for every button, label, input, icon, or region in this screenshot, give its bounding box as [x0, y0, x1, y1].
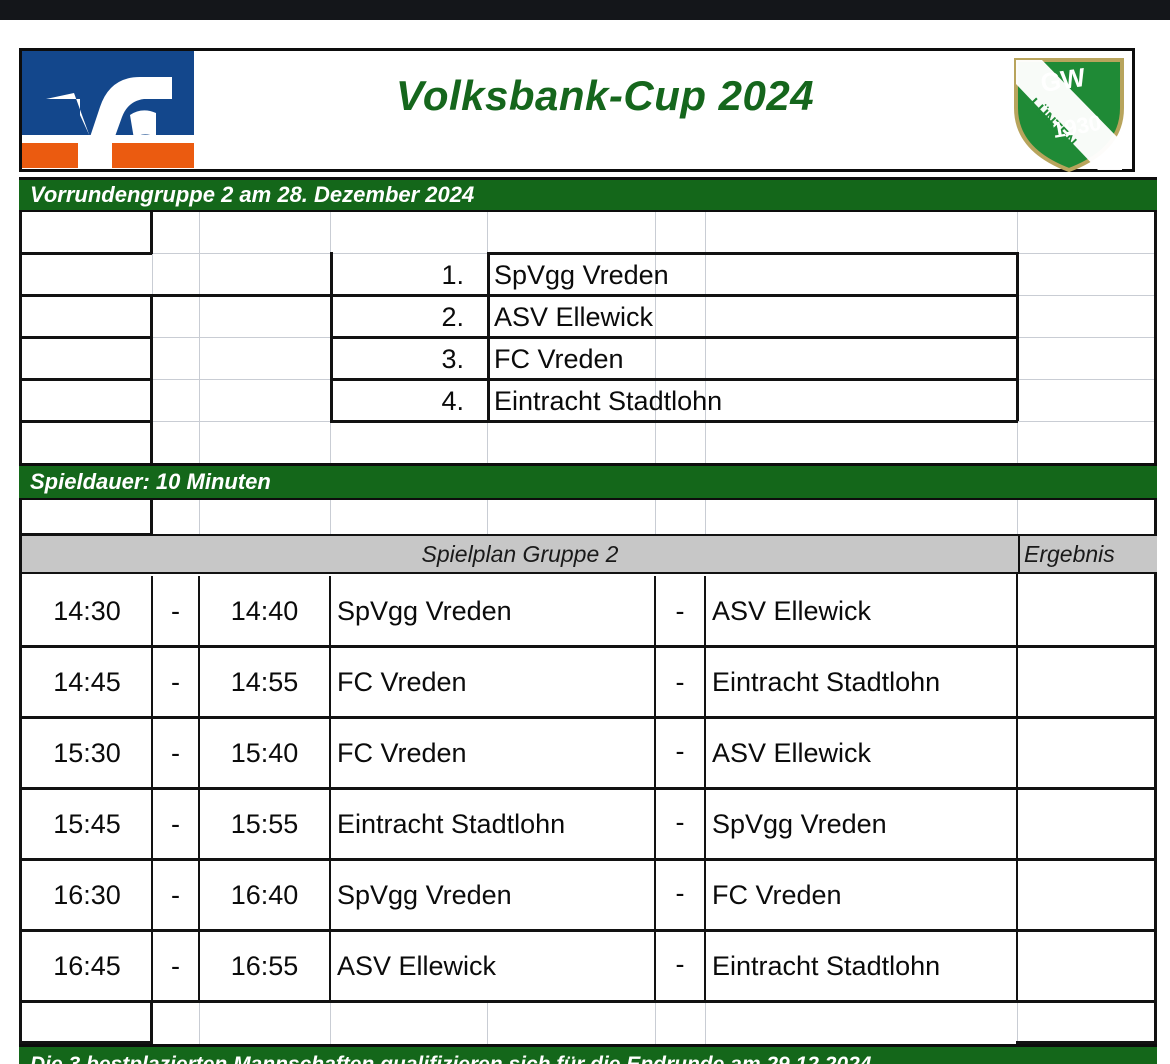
score-dash: -: [655, 789, 705, 860]
match-start-time: 15:30: [22, 718, 152, 789]
away-team: FC Vreden: [705, 860, 1018, 931]
result-field[interactable]: [1018, 647, 1157, 718]
result-field[interactable]: [1018, 789, 1157, 860]
time-range-dash: -: [152, 718, 199, 789]
home-team: ASV Ellewick: [330, 931, 655, 1002]
match-end-time: 15:40: [199, 718, 330, 789]
match-end-time: 14:40: [199, 576, 330, 647]
club-crest-icon: GW LÜNTEN 1930: [1002, 46, 1136, 174]
page-title: Volksbank-Cup 2024: [200, 72, 1010, 120]
home-team: FC Vreden: [330, 647, 655, 718]
away-team: SpVgg Vreden: [705, 789, 1018, 860]
table-row: 15:45 - 15:55 Eintracht Stadtlohn - SpVg…: [22, 789, 1157, 860]
banner-qualification-note: Die 3 bestplazierten Mannschaften qualif…: [19, 1044, 1157, 1064]
screenshot-root: Volksbank-Cup 2024 GW LÜNTEN 1930 Vorrun…: [0, 0, 1170, 1064]
table-row: 14:45 - 14:55 FC Vreden - Eintracht Stad…: [22, 647, 1157, 718]
home-team: FC Vreden: [330, 718, 655, 789]
away-team: Eintracht Stadtlohn: [705, 647, 1018, 718]
time-range-dash: -: [152, 576, 199, 647]
match-end-time: 14:55: [199, 647, 330, 718]
match-end-time: 16:55: [199, 931, 330, 1002]
home-team: SpVgg Vreden: [330, 860, 655, 931]
banner-match-duration: Spieldauer: 10 Minuten: [19, 463, 1157, 500]
team-name: Eintracht Stadtlohn: [487, 380, 722, 422]
document-sheet: Volksbank-Cup 2024 GW LÜNTEN 1930 Vorrun…: [0, 20, 1170, 1064]
table-row: 16:45 - 16:55 ASV Ellewick - Eintracht S…: [22, 931, 1157, 1002]
volksbank-logo-notch: [78, 143, 112, 168]
schedule-title: Spielplan Gruppe 2: [22, 534, 1018, 574]
table-row: 15:30 - 15:40 FC Vreden - ASV Ellewick: [22, 718, 1157, 789]
score-dash: -: [655, 576, 705, 647]
schedule-result-header: Ergebnis: [1018, 534, 1157, 574]
result-field[interactable]: [1018, 860, 1157, 931]
result-field[interactable]: [1018, 718, 1157, 789]
match-start-time: 14:45: [22, 647, 152, 718]
table-row: 14:30 - 14:40 SpVgg Vreden - ASV Ellewic…: [22, 576, 1157, 647]
away-team: Eintracht Stadtlohn: [705, 931, 1018, 1002]
score-dash: -: [655, 718, 705, 789]
banner-group-heading: Vorrundengruppe 2 am 28. Dezember 2024: [19, 177, 1157, 212]
away-team: ASV Ellewick: [705, 576, 1018, 647]
time-range-dash: -: [152, 647, 199, 718]
home-team: SpVgg Vreden: [330, 576, 655, 647]
score-dash: -: [655, 860, 705, 931]
time-range-dash: -: [152, 789, 199, 860]
home-team: Eintracht Stadtlohn: [330, 789, 655, 860]
match-end-time: 16:40: [199, 860, 330, 931]
team-rank: 1.: [330, 254, 487, 296]
team-name: ASV Ellewick: [487, 296, 653, 338]
result-field[interactable]: [1018, 931, 1157, 1002]
team-name: SpVgg Vreden: [487, 254, 669, 296]
svg-text:GW: GW: [1039, 62, 1088, 98]
score-dash: -: [655, 931, 705, 1002]
team-rank: 2.: [330, 296, 487, 338]
result-field[interactable]: [1018, 576, 1157, 647]
time-range-dash: -: [152, 931, 199, 1002]
team-rank: 4.: [330, 380, 487, 422]
match-start-time: 15:45: [22, 789, 152, 860]
time-range-dash: -: [152, 860, 199, 931]
table-row: 16:30 - 16:40 SpVgg Vreden - FC Vreden: [22, 860, 1157, 931]
match-end-time: 15:55: [199, 789, 330, 860]
team-name: FC Vreden: [487, 338, 624, 380]
match-start-time: 14:30: [22, 576, 152, 647]
match-start-time: 16:45: [22, 931, 152, 1002]
team-rank: 3.: [330, 338, 487, 380]
volksbank-logo: [22, 51, 194, 167]
score-dash: -: [655, 647, 705, 718]
away-team: ASV Ellewick: [705, 718, 1018, 789]
match-start-time: 16:30: [22, 860, 152, 931]
